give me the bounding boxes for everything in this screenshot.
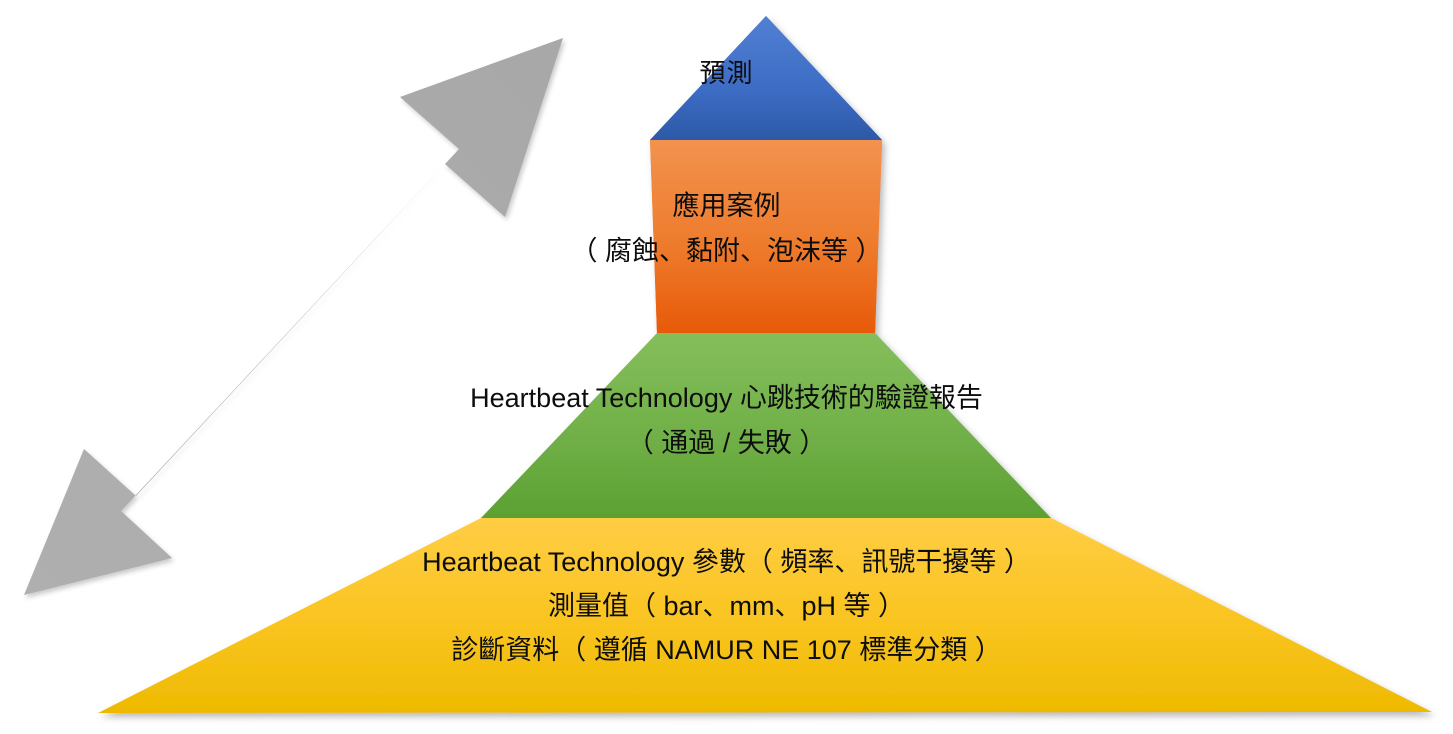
pyramid-graphic	[0, 0, 1453, 734]
pyramid-edge-cleanup	[650, 16, 882, 333]
pyramid-tier-4-shape	[98, 518, 1432, 713]
data-to-knowledge-arrow	[24, 38, 563, 595]
pyramid-tier-3-shape	[481, 333, 1051, 518]
pyramid-diagram: 預測 應用案例 （ 腐蝕、黏附、泡沫等 ） Heartbeat Technolo…	[0, 0, 1453, 734]
